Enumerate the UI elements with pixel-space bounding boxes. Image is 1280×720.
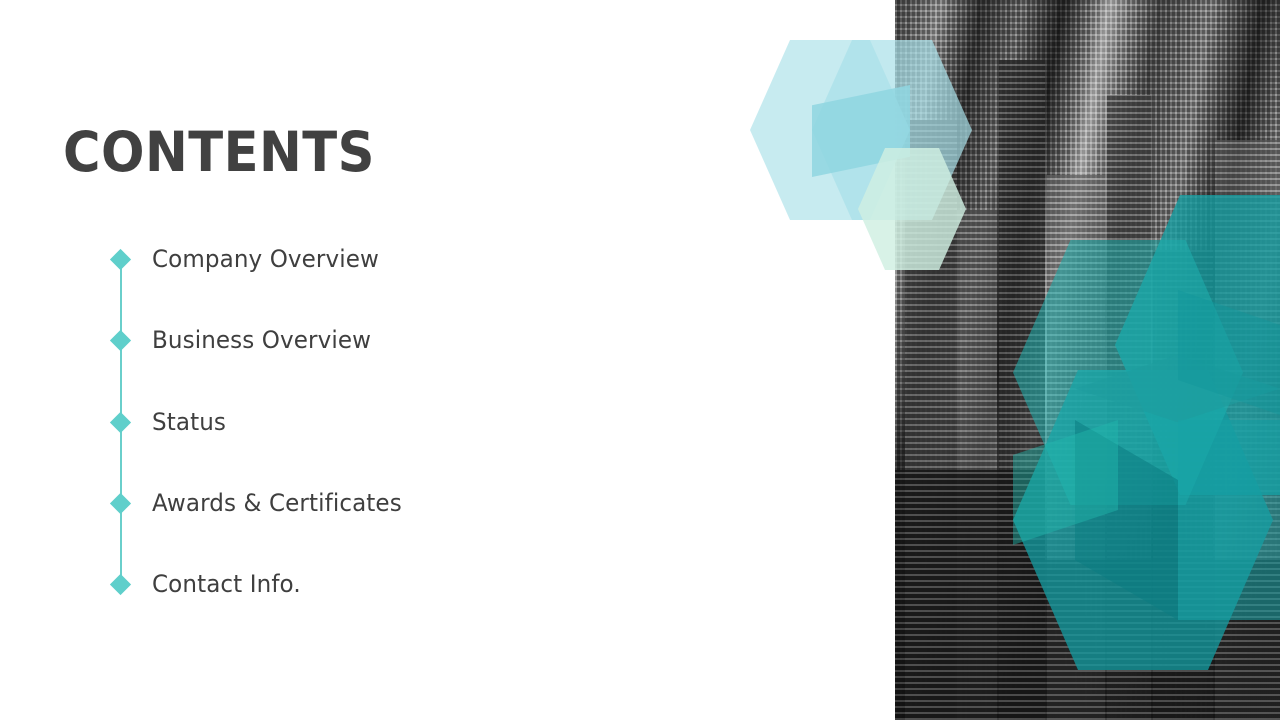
toc-item-awards-certificates[interactable]: Awards & Certificates bbox=[104, 486, 412, 520]
building-silhouette bbox=[895, 470, 1045, 720]
table-of-contents: Company Overview Business Overview Statu… bbox=[0, 0, 895, 720]
slide-canvas: CONTENTS Company Overview Business Overv… bbox=[0, 0, 1280, 720]
toc-item-status[interactable]: Status bbox=[104, 405, 229, 439]
toc-item-contact-info[interactable]: Contact Info. bbox=[104, 567, 307, 601]
diamond-icon bbox=[110, 492, 131, 513]
diamond-icon bbox=[110, 573, 131, 594]
toc-item-label: Status bbox=[152, 408, 226, 436]
toc-item-label: Business Overview bbox=[152, 326, 371, 354]
diamond-icon bbox=[110, 411, 131, 432]
toc-item-label: Contact Info. bbox=[152, 570, 301, 598]
left-content-panel: CONTENTS Company Overview Business Overv… bbox=[0, 0, 895, 720]
toc-item-company-overview[interactable]: Company Overview bbox=[104, 242, 388, 276]
diamond-icon bbox=[110, 329, 131, 350]
toc-item-label: Company Overview bbox=[152, 245, 379, 273]
building-silhouette bbox=[1045, 560, 1280, 720]
toc-item-business-overview[interactable]: Business Overview bbox=[104, 323, 380, 357]
city-skyline-photo bbox=[895, 0, 1280, 720]
diamond-icon bbox=[110, 248, 131, 269]
toc-item-label: Awards & Certificates bbox=[152, 489, 402, 517]
